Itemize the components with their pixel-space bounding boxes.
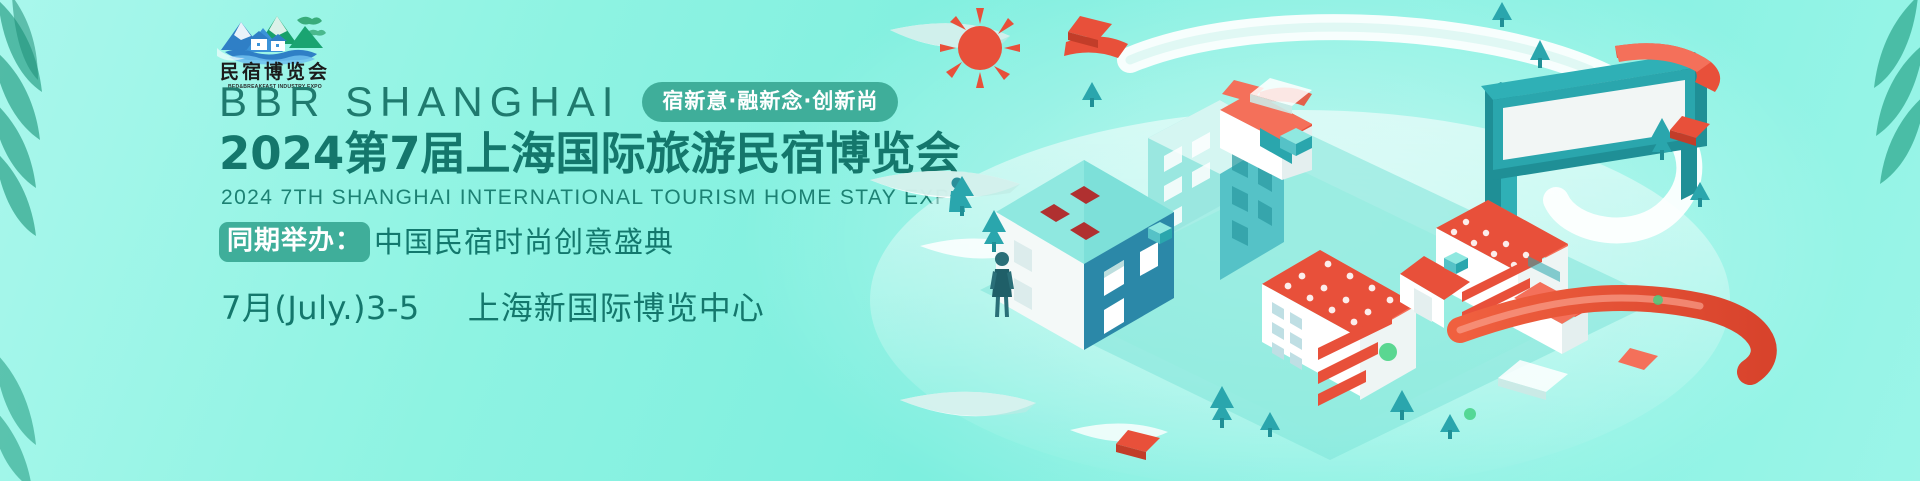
cohost-event-name: 中国民宿时尚创意盛典 — [374, 226, 674, 258]
brand-row: BBR SHANGHAI 宿新意·融新念·创新尚 — [219, 80, 898, 124]
illustration-svg — [830, 0, 1920, 481]
event-info-row: 7月(July.)3-5 上海新国际博览中心 — [221, 289, 765, 327]
brand-latin-name: BBR SHANGHAI — [219, 80, 620, 124]
event-venue: 上海新国际博览中心 — [468, 289, 765, 327]
isometric-city-illustration: 欢迎光临 — [830, 0, 1920, 481]
expo-banner: 民宿博览会 BED&BREAKFAST INDUSTRY EXPO BBR SH… — [0, 0, 1920, 481]
event-date: 7月(July.)3-5 — [221, 289, 420, 327]
cohost-label-pill: 同期举办： — [219, 222, 370, 262]
banner-text-block: 民宿博览会 BED&BREAKFAST INDUSTRY EXPO BBR SH… — [0, 0, 960, 481]
cohost-row: 同期举办： 中国民宿时尚创意盛典 — [219, 222, 674, 262]
mountain-village-logo-icon — [215, 8, 335, 66]
